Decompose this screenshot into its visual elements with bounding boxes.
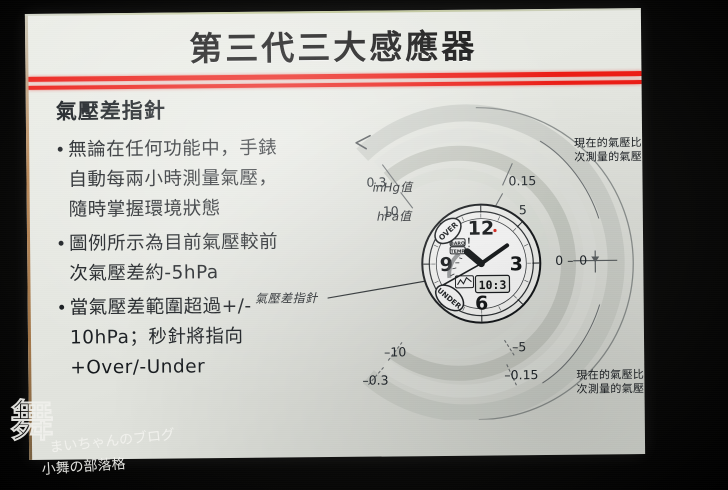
bullet-text-block: 圖例所示為目前氣壓較前 次氣壓差約-5hPa xyxy=(69,228,279,290)
body-text-column: 氣壓差指針 • 無論在任何功能中，手錶 自動每兩小時測量氣壓， 隨時掌握環境狀態… xyxy=(52,93,345,388)
bullet-line: 自動每兩小時測量氣壓， xyxy=(68,164,277,196)
bullet-text-block: 無論在任何功能中，手錶 自動每兩小時測量氣壓， 隨時掌握環境狀態 xyxy=(68,134,278,226)
section-subheading: 氣壓差指針 xyxy=(56,93,342,126)
slide-title-bar: 第三代三大感應器 xyxy=(25,14,642,82)
bullet-text-block: 當氣壓差範圍超過+/- 10hPa；秒針將指向 +Over/-Under xyxy=(70,292,253,384)
presentation-slide: 第三代三大感應器 氣壓差指針 • 無論在任何功能中，手錶 自動每兩小時測量氣壓，… xyxy=(25,8,645,460)
scale-zero-dash: – xyxy=(567,253,573,268)
annotation-pressure-higher: 現在的氣壓比上 次測量的氣壓高 xyxy=(574,136,645,165)
annotation-line: 次測量的氣壓高 xyxy=(574,150,645,165)
annotation-line: 現在的氣壓比上 xyxy=(576,368,645,383)
watch-illustration: 12 3 6 9 BARO TEMP 10:3 xyxy=(419,201,544,326)
scale-inhg-zero: 0 xyxy=(579,253,587,268)
bullet-marker: • xyxy=(54,294,70,324)
watch-mode-baro: BARO xyxy=(450,241,465,247)
annotation-pressure-lower: 現在的氣壓比上 次測量的氣壓低 xyxy=(576,368,645,397)
scale-hpa-minus-10: –10 xyxy=(384,344,406,359)
pressure-hand-callout: 氣壓差指針 xyxy=(255,289,318,307)
pressure-difference-diagram: inHg值 hPa值 0.3 10 0.15 5 0 – 0 –5 –0.15 … xyxy=(326,100,645,421)
projector-photo: 第三代三大感應器 氣壓差指針 • 無論在任何功能中，手錶 自動每兩小時測量氣壓，… xyxy=(0,0,728,490)
scale-inhg-minus-015: –0.15 xyxy=(504,367,538,382)
watch-hour-12: 12 xyxy=(468,217,495,239)
bullet-line: 隨時掌握環境狀態 xyxy=(69,194,278,226)
bullet-marker: • xyxy=(53,230,69,260)
bullet-line: 次氣壓差約-5hPa xyxy=(69,258,278,290)
bullet-line: 無論在任何功能中，手錶 xyxy=(68,134,277,166)
page-title: 第三代三大感應器 xyxy=(25,18,641,72)
bullet-line: 10hPa；秒針將指向 xyxy=(70,322,252,354)
scale-hpa-zero: 0 xyxy=(555,253,563,268)
bullet-line: 當氣壓差範圍超過+/- xyxy=(70,292,252,324)
watch-hour-3: 3 xyxy=(510,253,523,275)
list-item: • 圖例所示為目前氣壓較前 次氣壓差約-5hPa xyxy=(53,227,344,290)
scale-inhg-plus-015: 0.15 xyxy=(508,173,536,188)
scale-inhg-plus-03: 0.3 xyxy=(366,175,386,190)
bullet-marker: • xyxy=(52,136,68,166)
bullet-line: 圖例所示為目前氣壓較前 xyxy=(69,228,278,260)
annotation-line: 現在的氣壓比上 xyxy=(574,136,645,151)
annotation-line: 次測量的氣壓低 xyxy=(576,382,645,397)
scale-inhg-minus-03: –0.3 xyxy=(362,372,388,387)
scale-hpa-minus-5: –5 xyxy=(512,339,526,354)
watch-lcd-value: 10:3 xyxy=(479,278,507,292)
list-item: • 無論在任何功能中，手錶 自動每兩小時測量氣壓， 隨時掌握環境狀態 xyxy=(52,133,343,226)
watch-mode-temp: TEMP xyxy=(451,249,466,255)
scale-hpa-plus-10: 10 xyxy=(383,203,399,218)
bullet-line: +Over/-Under xyxy=(70,352,252,384)
title-divider-lower xyxy=(29,80,642,90)
watch-hour-6: 6 xyxy=(475,293,488,315)
